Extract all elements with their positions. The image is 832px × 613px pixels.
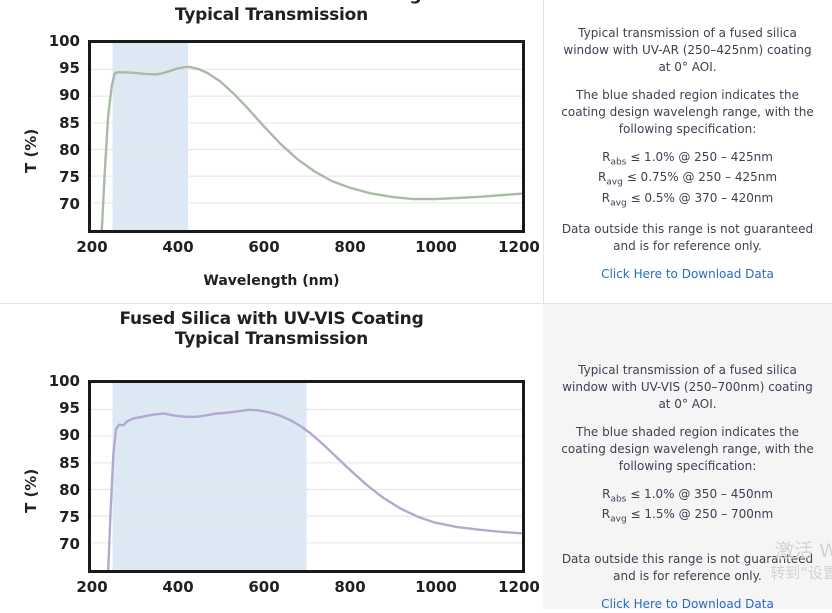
info-intro-1: Typical transmission of a fused silica w… — [557, 25, 818, 76]
plot-frame-1 — [88, 40, 525, 233]
spec-list-1: Rabs ≤ 1.0% @ 250 – 425nm Ravg ≤ 0.75% @… — [557, 149, 818, 209]
y-tick-1-2: 90 — [40, 88, 80, 103]
y-tick-2-5: 75 — [40, 510, 80, 525]
y-axis-label-2: T (%) — [22, 469, 40, 513]
x-tick-1-1: 400 — [148, 240, 208, 255]
row-uv-vis: Fused Silica with UV-VIS Coating Typical… — [0, 304, 832, 609]
spec-symbol: R — [602, 191, 610, 205]
spec-subscript: avg — [610, 198, 627, 208]
chart-cell-uv-ar: Fused Silica with UV-AR Coating Typical … — [0, 0, 543, 303]
spec-subscript: avg — [610, 515, 627, 525]
download-data-link-1[interactable]: Click Here to Download Data — [601, 266, 774, 283]
x-tick-2-3: 800 — [320, 580, 380, 595]
chart-title-line1-2: Fused Silica with UV-VIS Coating — [0, 310, 543, 330]
spec-value: ≤ 1.0% @ 350 – 450nm — [630, 487, 773, 501]
shaded-band-1 — [113, 43, 189, 230]
y-tick-1-6: 70 — [40, 197, 80, 212]
row-uv-ar: Fused Silica with UV-AR Coating Typical … — [0, 0, 832, 303]
spec-list-2: Rabs ≤ 1.0% @ 350 – 450nm Ravg ≤ 1.5% @ … — [557, 486, 818, 526]
plot-frame-2 — [88, 380, 525, 573]
x-tick-1-5: 1200 — [489, 240, 543, 255]
y-tick-2-3: 85 — [40, 456, 80, 471]
spec-row-1-0: Rabs ≤ 1.0% @ 250 – 425nm — [557, 149, 818, 169]
info-panel-uv-ar: Typical transmission of a fused silica w… — [543, 0, 832, 303]
info-note-2: The blue shaded region indicates the coa… — [557, 424, 818, 475]
chart-title-line2-1: Typical Transmission — [0, 6, 543, 26]
y-tick-1-4: 80 — [40, 143, 80, 158]
download-data-link-2[interactable]: Click Here to Download Data — [601, 596, 774, 613]
x-tick-1-2: 600 — [234, 240, 294, 255]
spec-value: ≤ 1.5% @ 250 – 700nm — [631, 507, 774, 521]
spec-subscript: abs — [610, 158, 626, 168]
y-tick-2-0: 100 — [40, 374, 80, 389]
info-panel-uv-vis: Typical transmission of a fused silica w… — [543, 304, 832, 609]
info-disclaimer-1: Data outside this range is not guarantee… — [557, 221, 818, 255]
y-tick-2-2: 90 — [40, 428, 80, 443]
shaded-band-2 — [113, 383, 307, 570]
spec-row-1-2: Ravg ≤ 0.5% @ 370 – 420nm — [557, 190, 818, 210]
y-tick-2-6: 70 — [40, 537, 80, 552]
info-disclaimer-2: Data outside this range is not guarantee… — [557, 551, 818, 585]
spec-value: ≤ 0.5% @ 370 – 420nm — [631, 191, 774, 205]
chart-cell-uv-vis: Fused Silica with UV-VIS Coating Typical… — [0, 304, 543, 609]
y-tick-2-4: 80 — [40, 483, 80, 498]
y-tick-1-1: 95 — [40, 61, 80, 76]
spec-value: ≤ 0.75% @ 250 – 425nm — [627, 170, 777, 184]
y-tick-1-0: 100 — [40, 34, 80, 49]
x-tick-1-0: 200 — [62, 240, 122, 255]
chart-title-line2-2: Typical Transmission — [0, 330, 543, 350]
spec-row-2-0: Rabs ≤ 1.0% @ 350 – 450nm — [557, 486, 818, 506]
x-tick-2-2: 600 — [234, 580, 294, 595]
x-tick-2-0: 200 — [62, 580, 122, 595]
info-note-1: The blue shaded region indicates the coa… — [557, 87, 818, 138]
x-tick-2-4: 1000 — [406, 580, 466, 595]
y-tick-1-5: 75 — [40, 170, 80, 185]
column-divider-1 — [543, 0, 544, 303]
spec-subscript: abs — [610, 495, 626, 505]
x-tick-1-3: 800 — [320, 240, 380, 255]
plot-svg-2 — [91, 383, 522, 570]
x-axis-label-1: Wavelength (nm) — [0, 273, 543, 289]
info-intro-2: Typical transmission of a fused silica w… — [557, 362, 818, 413]
y-axis-label-1: T (%) — [22, 129, 40, 173]
chart-title-clip-2: Fused Silica with UV-VIS Coating Typical… — [0, 310, 543, 368]
x-tick-1-4: 1000 — [406, 240, 466, 255]
spec-value: ≤ 1.0% @ 250 – 425nm — [630, 150, 773, 164]
x-tick-2-5: 1200 — [489, 580, 543, 595]
y-tick-2-1: 95 — [40, 401, 80, 416]
page-root: Fused Silica with UV-AR Coating Typical … — [0, 0, 832, 609]
y-tick-1-3: 85 — [40, 116, 80, 131]
spec-subscript: avg — [606, 178, 623, 188]
spec-row-2-1: Ravg ≤ 1.5% @ 250 – 700nm — [557, 506, 818, 526]
x-tick-2-1: 400 — [148, 580, 208, 595]
plot-svg-1 — [91, 43, 522, 230]
spec-row-1-1: Ravg ≤ 0.75% @ 250 – 425nm — [557, 169, 818, 189]
spec-symbol: R — [602, 507, 610, 521]
chart-title-clip-1: Fused Silica with UV-AR Coating Typical … — [0, 0, 543, 26]
